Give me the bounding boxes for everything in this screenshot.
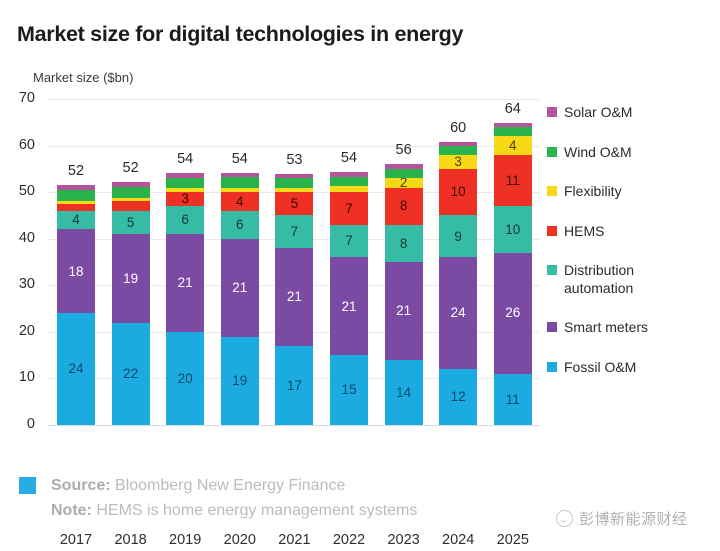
- segment-value-label: 15: [341, 383, 356, 397]
- bar-segment: [166, 188, 204, 192]
- bar-segment: [385, 164, 423, 169]
- bar-segment: 19: [112, 234, 150, 322]
- legend-swatch-icon: [547, 322, 557, 332]
- bar-segment: 8: [385, 225, 423, 262]
- segment-value-label: 3: [181, 192, 189, 206]
- bar-segment: [166, 173, 204, 178]
- bar-segment: [330, 172, 368, 177]
- bar-total-label: 52: [57, 163, 95, 179]
- bar-2021[interactable]: 172175: [275, 174, 313, 425]
- bar-segment: [330, 177, 368, 186]
- bar-segment: [112, 198, 150, 201]
- bar-segment: 15: [330, 355, 368, 425]
- bar-2023[interactable]: 1421882: [385, 164, 423, 425]
- bar-segment: 4: [57, 211, 95, 230]
- bar-2025[interactable]: 112610114: [494, 123, 532, 425]
- bar-total-label: 53: [275, 152, 313, 168]
- segment-value-label: 5: [127, 216, 135, 230]
- bar-segment: 18: [57, 229, 95, 313]
- note-line: Note: HEMS is home energy management sys…: [51, 499, 417, 524]
- segment-value-label: 21: [232, 281, 247, 295]
- legend-swatch-icon: [547, 147, 557, 157]
- footer-swatch-icon: [19, 477, 36, 494]
- segment-value-label: 6: [236, 218, 244, 232]
- y-tick-label: 30: [1, 276, 35, 292]
- legend-item-smart-meters[interactable]: Smart meters: [547, 319, 715, 337]
- bar-segment: 3: [439, 155, 477, 169]
- bar-segment: 7: [275, 215, 313, 248]
- segment-value-label: 17: [287, 379, 302, 393]
- segment-value-label: 18: [68, 265, 83, 279]
- bar-segment: 22: [112, 323, 150, 425]
- bar-segment: 4: [494, 136, 532, 155]
- watermark: 彭博新能源财经: [556, 508, 688, 529]
- watermark-text: 彭博新能源财经: [579, 508, 688, 529]
- bar-2020[interactable]: 192164: [221, 173, 259, 425]
- bar-segment: [221, 173, 259, 178]
- y-tick-label: 40: [1, 230, 35, 246]
- bar-segment: 3: [166, 192, 204, 206]
- bar-segment: [112, 182, 150, 187]
- bar-segment: 7: [330, 225, 368, 258]
- bar-segment: 12: [439, 369, 477, 425]
- bar-segment: [330, 186, 368, 192]
- legend-label: Flexibility: [564, 183, 622, 201]
- bar-segment: 24: [439, 257, 477, 369]
- bar-2022[interactable]: 152177: [330, 172, 368, 425]
- bar-segment: 26: [494, 253, 532, 374]
- bar-segment: 7: [330, 192, 368, 225]
- segment-value-label: 8: [400, 199, 408, 213]
- bar-segment: 11: [494, 374, 532, 425]
- bar-segment: [494, 123, 532, 127]
- bar-total-label: 54: [330, 150, 368, 166]
- legend-swatch-icon: [547, 107, 557, 117]
- y-tick-label: 60: [1, 137, 35, 153]
- bar-segment: [275, 174, 313, 179]
- gridline-0: [47, 425, 540, 426]
- segment-value-label: 3: [454, 155, 462, 169]
- bar-segment: 4: [221, 192, 259, 211]
- legend-swatch-icon: [547, 265, 557, 275]
- legend-item-distribution-automation[interactable]: Distributionautomation: [547, 262, 715, 297]
- x-tick-label-2021: 2021: [264, 532, 324, 548]
- legend-label: Solar O&M: [564, 104, 632, 122]
- bar-segment: [57, 185, 95, 190]
- page-title: Market size for digital technologies in …: [17, 22, 463, 47]
- legend-label: HEMS: [564, 223, 604, 241]
- x-tick-label-2025: 2025: [483, 532, 543, 548]
- bar-segment: 17: [275, 346, 313, 425]
- bar-segment: 21: [275, 248, 313, 346]
- bar-total-label: 54: [221, 151, 259, 167]
- note-value: HEMS is home energy management systems: [96, 502, 417, 519]
- footer-notes: Source: Bloomberg New Energy Finance Not…: [19, 474, 417, 524]
- segment-value-label: 14: [396, 386, 411, 400]
- segment-value-label: 7: [291, 225, 299, 239]
- segment-value-label: 21: [178, 276, 193, 290]
- segment-value-label: 5: [291, 197, 299, 211]
- segment-value-label: 12: [451, 390, 466, 404]
- bar-segment: 10: [494, 206, 532, 253]
- source-label: Source:: [51, 477, 111, 494]
- bar-segment: [494, 127, 532, 136]
- chart-page: Market size for digital technologies in …: [0, 0, 720, 551]
- x-tick-label-2023: 2023: [374, 532, 434, 548]
- bar-2017[interactable]: 24184: [57, 185, 95, 425]
- source-value: Bloomberg New Energy Finance: [115, 477, 345, 494]
- bar-segment: 10: [439, 169, 477, 216]
- bar-segment: [57, 201, 95, 203]
- legend-swatch-icon: [547, 186, 557, 196]
- bar-segment: 5: [275, 192, 313, 215]
- bar-segment: [57, 204, 95, 211]
- legend-swatch-icon: [547, 362, 557, 372]
- bar-segment: 21: [221, 239, 259, 337]
- segment-value-label: 20: [178, 372, 193, 386]
- segment-value-label: 26: [505, 306, 520, 320]
- segment-value-label: 10: [505, 223, 520, 237]
- legend-label: Distributionautomation: [564, 262, 634, 297]
- segment-value-label: 4: [509, 139, 517, 153]
- y-tick-label: 10: [1, 369, 35, 385]
- bar-total-label: 56: [385, 142, 423, 158]
- bar-total-label: 64: [494, 101, 532, 117]
- bar-segment: 21: [330, 257, 368, 355]
- segment-value-label: 24: [451, 306, 466, 320]
- bar-segment: [439, 146, 477, 155]
- bar-2019[interactable]: 202163: [166, 173, 204, 425]
- bar-segment: [221, 177, 259, 187]
- x-tick-label-2018: 2018: [101, 532, 161, 548]
- gridline-70: [47, 99, 540, 100]
- bar-segment: 21: [385, 262, 423, 360]
- segment-value-label: 6: [181, 213, 189, 227]
- legend-item-solar-o-m[interactable]: Solar O&M: [547, 104, 715, 122]
- bar-segment: [112, 201, 150, 210]
- segment-value-label: 21: [287, 290, 302, 304]
- x-tick-label-2019: 2019: [155, 532, 215, 548]
- bar-segment: 6: [221, 211, 259, 239]
- legend-item-flexibility[interactable]: Flexibility: [547, 183, 715, 201]
- legend-item-fossil-o-m[interactable]: Fossil O&M: [547, 359, 715, 377]
- legend-swatch-icon: [547, 226, 557, 236]
- bar-segment: [275, 178, 313, 187]
- bar-segment: [221, 188, 259, 193]
- bar-segment: 2: [385, 178, 423, 187]
- y-axis-title: Market size ($bn): [33, 70, 133, 85]
- chart-legend: Solar O&MWind O&MFlexibilityHEMSDistribu…: [547, 104, 715, 398]
- segment-value-label: 10: [451, 185, 466, 199]
- segment-value-label: 4: [236, 195, 244, 209]
- bar-2018[interactable]: 22195: [112, 182, 150, 425]
- bar-segment: 5: [112, 211, 150, 234]
- legend-label: Fossil O&M: [564, 359, 636, 377]
- bar-segment: 21: [166, 234, 204, 332]
- bar-segment: [166, 178, 204, 189]
- bar-segment: 8: [385, 188, 423, 225]
- bar-segment: 6: [166, 206, 204, 234]
- bar-2024[interactable]: 12249103: [439, 142, 477, 425]
- bar-segment: [385, 169, 423, 178]
- bar-segment: 19: [221, 337, 259, 425]
- source-line: Source: Bloomberg New Energy Finance: [51, 474, 417, 499]
- legend-item-wind-o-m[interactable]: Wind O&M: [547, 144, 715, 162]
- footer-lines: Source: Bloomberg New Energy Finance Not…: [51, 474, 417, 524]
- bar-segment: [439, 142, 477, 146]
- x-tick-label-2017: 2017: [46, 532, 106, 548]
- x-tick-label-2024: 2024: [428, 532, 488, 548]
- legend-label: Wind O&M: [564, 144, 632, 162]
- bnef-circle-logo-icon: [556, 510, 573, 527]
- bar-segment: 20: [166, 332, 204, 425]
- y-tick-label: 20: [1, 323, 35, 339]
- bar-segment: 9: [439, 215, 477, 257]
- bar-segment: 11: [494, 155, 532, 206]
- segment-value-label: 24: [68, 362, 83, 376]
- segment-value-label: 11: [506, 393, 520, 407]
- bar-segment: 14: [385, 360, 423, 425]
- segment-value-label: 19: [232, 374, 247, 388]
- note-label: Note:: [51, 502, 92, 519]
- bar-segment: [275, 188, 313, 193]
- segment-value-label: 7: [345, 202, 353, 216]
- legend-item-hems[interactable]: HEMS: [547, 223, 715, 241]
- y-tick-label: 70: [1, 90, 35, 106]
- segment-value-label: 19: [123, 272, 138, 286]
- x-tick-label-2022: 2022: [319, 532, 379, 548]
- segment-value-label: 21: [341, 300, 356, 314]
- bar-segment: 24: [57, 313, 95, 425]
- segment-value-label: 21: [396, 304, 411, 318]
- plot-area: 0102030405060702418452201722195522018202…: [47, 99, 540, 425]
- segment-value-label: 22: [123, 367, 138, 381]
- bar-segment: [112, 187, 150, 199]
- y-tick-label: 0: [1, 416, 35, 432]
- x-tick-label-2020: 2020: [210, 532, 270, 548]
- bar-total-label: 60: [439, 120, 477, 136]
- segment-value-label: 8: [400, 237, 408, 251]
- segment-value-label: 11: [506, 174, 520, 188]
- bar-total-label: 52: [112, 160, 150, 176]
- segment-value-label: 7: [345, 234, 353, 248]
- y-tick-label: 50: [1, 183, 35, 199]
- bar-segment: [57, 190, 95, 202]
- segment-value-label: 9: [454, 230, 462, 244]
- legend-label: Smart meters: [564, 319, 648, 337]
- segment-value-label: 4: [72, 213, 80, 227]
- bar-total-label: 54: [166, 151, 204, 167]
